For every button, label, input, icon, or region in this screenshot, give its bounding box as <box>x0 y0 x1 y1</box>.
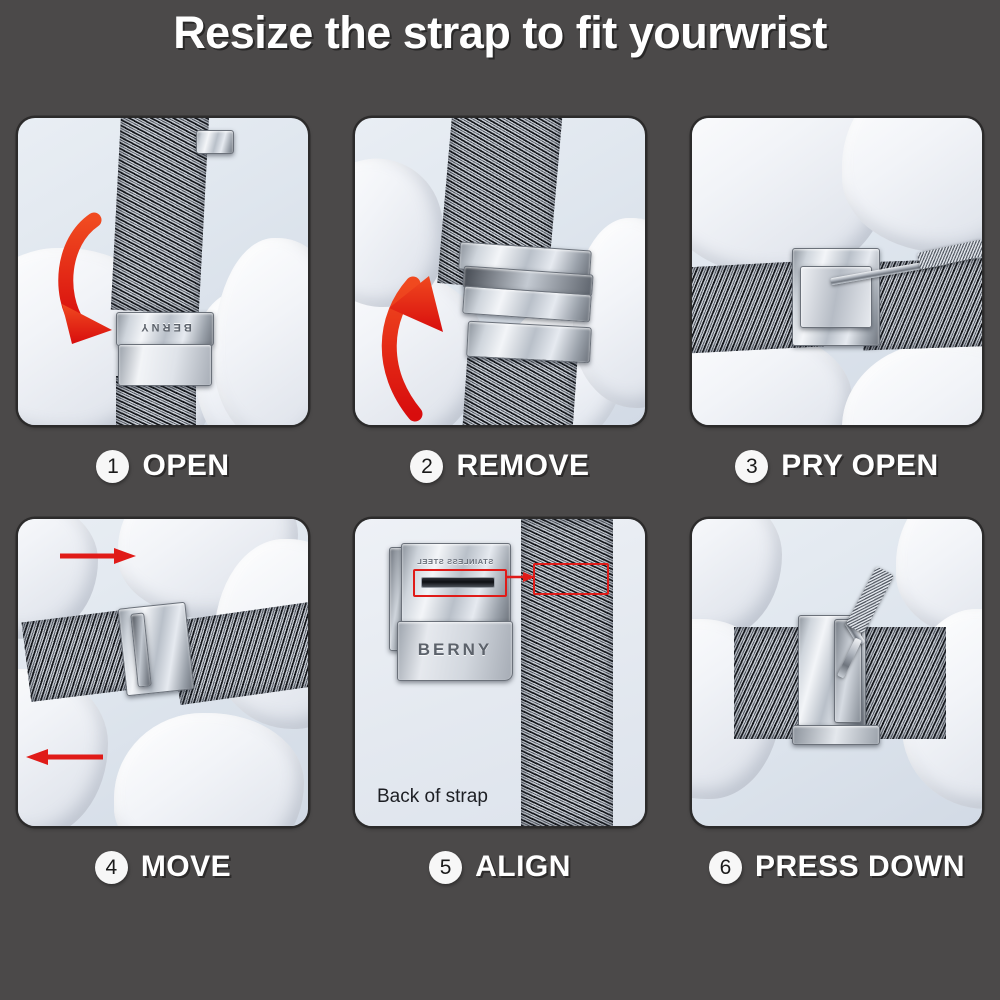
step-cell-2: 2 REMOVE <box>355 118 645 489</box>
step-caption-6: 6 PRESS DOWN <box>692 844 982 890</box>
clasp-plate <box>118 344 212 386</box>
step-badge-2: 2 <box>410 450 443 483</box>
step-caption-5: 5 ALIGN <box>355 844 645 890</box>
step-label-4: MOVE <box>141 850 231 884</box>
step-photo-5: STAINLESS STEEL BERNY Back of strap <box>355 519 645 826</box>
back-of-strap-caption: Back of strap <box>377 786 488 808</box>
red-highlight-slot <box>413 569 507 597</box>
clasp-brand-label: BERNY <box>117 321 213 333</box>
photo-open-clasp: BERNY <box>18 118 308 425</box>
gloved-hand <box>214 238 308 425</box>
clasp-engraving-label: STAINLESS STEEL <box>401 557 509 566</box>
step-label-1: OPEN <box>142 449 229 483</box>
mesh-strap <box>864 627 946 739</box>
red-highlight-mesh-target <box>533 563 609 595</box>
mesh-strap <box>111 118 209 314</box>
step-badge-4: 4 <box>95 851 128 884</box>
step-caption-3: 3 PRY OPEN <box>692 443 982 489</box>
step-label-5: ALIGN <box>475 850 571 884</box>
step-cell-6: 6 PRESS DOWN <box>692 519 982 890</box>
clasp-plate <box>466 321 592 363</box>
photo-press-down <box>692 519 982 826</box>
step-photo-2 <box>355 118 645 425</box>
strap-end-link <box>196 130 234 154</box>
clasp-lower-plate: BERNY <box>397 621 513 681</box>
step-photo-1: BERNY <box>18 118 308 425</box>
step-cell-5: STAINLESS STEEL BERNY Back of strap 5 AL… <box>355 519 645 890</box>
step-caption-1: 1 OPEN <box>18 443 308 489</box>
clasp-body <box>118 602 195 697</box>
step-photo-4 <box>18 519 308 826</box>
step-photo-3 <box>692 118 982 425</box>
photo-remove-link <box>355 118 645 425</box>
step-label-3: PRY OPEN <box>781 449 938 483</box>
step-badge-6: 6 <box>709 851 742 884</box>
page-title: Resize the strap to fit yourwrist <box>0 0 1000 66</box>
gloved-hand <box>842 342 982 425</box>
photo-pry-open <box>692 118 982 425</box>
steps-grid: BERNY 1 OPEN <box>18 118 982 890</box>
clasp-body: BERNY <box>116 312 214 346</box>
clasp-brand-label: BERNY <box>398 640 512 660</box>
step-cell-3: 3 PRY OPEN <box>692 118 982 489</box>
step-badge-3: 3 <box>735 450 768 483</box>
photo-move-clasp <box>18 519 308 826</box>
photo-align-diagram: STAINLESS STEEL BERNY Back of strap <box>355 519 645 826</box>
press-tool-grip <box>846 566 895 634</box>
step-caption-4: 4 MOVE <box>18 844 308 890</box>
step-photo-6 <box>692 519 982 826</box>
step-label-2: REMOVE <box>456 449 589 483</box>
step-badge-5: 5 <box>429 851 462 884</box>
step-cell-1: BERNY 1 OPEN <box>18 118 308 489</box>
step-label-6: PRESS DOWN <box>755 850 965 884</box>
clasp-base-bar <box>792 725 880 745</box>
step-badge-1: 1 <box>96 450 129 483</box>
gloved-hand <box>114 713 304 826</box>
step-cell-4: 4 MOVE <box>18 519 308 890</box>
step-caption-2: 2 REMOVE <box>355 443 645 489</box>
